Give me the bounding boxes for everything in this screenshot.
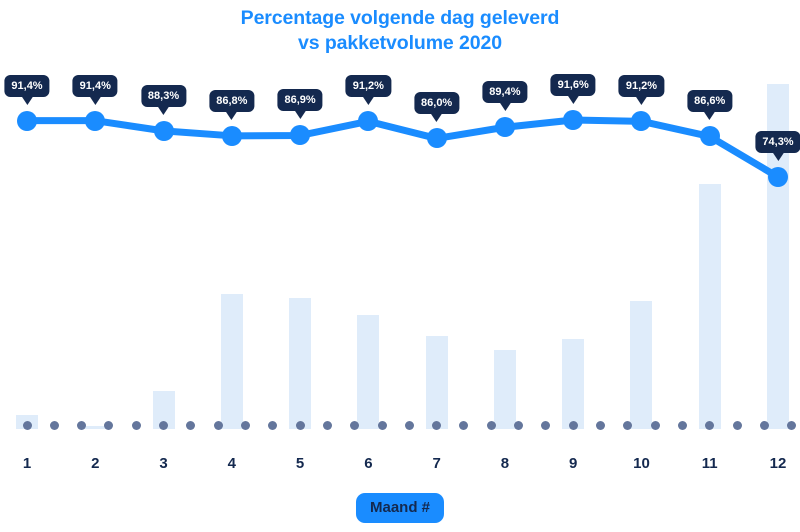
value-label: 86,9% xyxy=(277,89,322,111)
baseline-dot xyxy=(651,421,660,430)
x-axis-tick-label: 10 xyxy=(633,455,650,472)
value-label: 86,8% xyxy=(209,90,254,112)
baseline-dot xyxy=(487,421,496,430)
value-label: 74,3% xyxy=(755,131,800,153)
x-axis-tick-label: 9 xyxy=(569,455,577,472)
bar xyxy=(699,184,721,429)
baseline-dot xyxy=(132,421,141,430)
x-axis-label-badge: Maand # xyxy=(356,493,444,523)
baseline-dot xyxy=(733,421,742,430)
baseline-dot xyxy=(459,421,468,430)
bar xyxy=(221,294,243,429)
line-path xyxy=(27,120,778,177)
bar xyxy=(357,315,379,429)
baseline-dot xyxy=(705,421,714,430)
value-label: 91,2% xyxy=(619,75,664,97)
x-axis-tick-label: 12 xyxy=(770,455,787,472)
plot-area: 91,4%91,4%88,3%86,8%86,9%91,2%86,0%89,4%… xyxy=(0,60,800,432)
value-label: 91,4% xyxy=(4,75,49,97)
baseline-dot xyxy=(623,421,632,430)
bar xyxy=(84,426,106,429)
line-marker[interactable] xyxy=(290,125,310,145)
baseline-dot xyxy=(541,421,550,430)
value-label: 91,4% xyxy=(73,75,118,97)
bar xyxy=(630,301,652,429)
baseline-dot xyxy=(268,421,277,430)
baseline-dot xyxy=(23,421,32,430)
line-marker[interactable] xyxy=(85,111,105,131)
line-marker[interactable] xyxy=(17,111,37,131)
x-axis-tick-label: 6 xyxy=(364,455,372,472)
line-marker[interactable] xyxy=(222,126,242,146)
baseline-dot xyxy=(50,421,59,430)
baseline-dot xyxy=(159,421,168,430)
baseline-dot xyxy=(104,421,113,430)
bar xyxy=(494,350,516,429)
x-axis-tick-label: 11 xyxy=(702,455,718,472)
baseline-dot xyxy=(569,421,578,430)
line-marker[interactable] xyxy=(154,121,174,141)
baseline-dot xyxy=(514,421,523,430)
chart-title: Percentage volgende dag geleverd vs pakk… xyxy=(0,6,800,56)
baseline-dot xyxy=(432,421,441,430)
value-label: 88,3% xyxy=(141,85,186,107)
bar xyxy=(562,339,584,429)
baseline-dot xyxy=(405,421,414,430)
baseline-dot xyxy=(186,421,195,430)
baseline-dot xyxy=(787,421,796,430)
line-series-svg xyxy=(0,60,800,432)
x-axis-tick-label: 7 xyxy=(432,455,440,472)
line-marker[interactable] xyxy=(358,111,378,131)
line-marker[interactable] xyxy=(700,126,720,146)
x-axis-tick-label: 2 xyxy=(91,455,99,472)
value-label: 89,4% xyxy=(482,81,527,103)
baseline-dot xyxy=(323,421,332,430)
line-marker[interactable] xyxy=(563,110,583,130)
baseline-dot xyxy=(378,421,387,430)
value-label: 86,0% xyxy=(414,92,459,114)
baseline-dot xyxy=(296,421,305,430)
x-axis-tick-label: 1 xyxy=(23,455,31,472)
baseline-dot xyxy=(214,421,223,430)
baseline-dot xyxy=(596,421,605,430)
chart-title-line-1: Percentage volgende dag geleverd xyxy=(0,6,800,31)
line-marker[interactable] xyxy=(495,117,515,137)
line-marker[interactable] xyxy=(631,111,651,131)
x-axis-tick-label: 3 xyxy=(159,455,167,472)
baseline-dot xyxy=(678,421,687,430)
value-label: 91,6% xyxy=(551,74,596,96)
x-axis-tick-label: 4 xyxy=(228,455,236,472)
baseline-dot xyxy=(350,421,359,430)
line-marker[interactable] xyxy=(768,167,788,187)
bar xyxy=(289,298,311,429)
chart-container: Percentage volgende dag geleverd vs pakk… xyxy=(0,0,800,532)
baseline-dot xyxy=(241,421,250,430)
bar xyxy=(426,336,448,429)
baseline-dot xyxy=(760,421,769,430)
line-marker[interactable] xyxy=(427,128,447,148)
value-label: 91,2% xyxy=(346,75,391,97)
x-axis-tick-label: 5 xyxy=(296,455,304,472)
value-label: 86,6% xyxy=(687,90,732,112)
baseline-dot xyxy=(77,421,86,430)
x-axis-tick-label: 8 xyxy=(501,455,509,472)
chart-title-line-2: vs pakketvolume 2020 xyxy=(0,31,800,56)
